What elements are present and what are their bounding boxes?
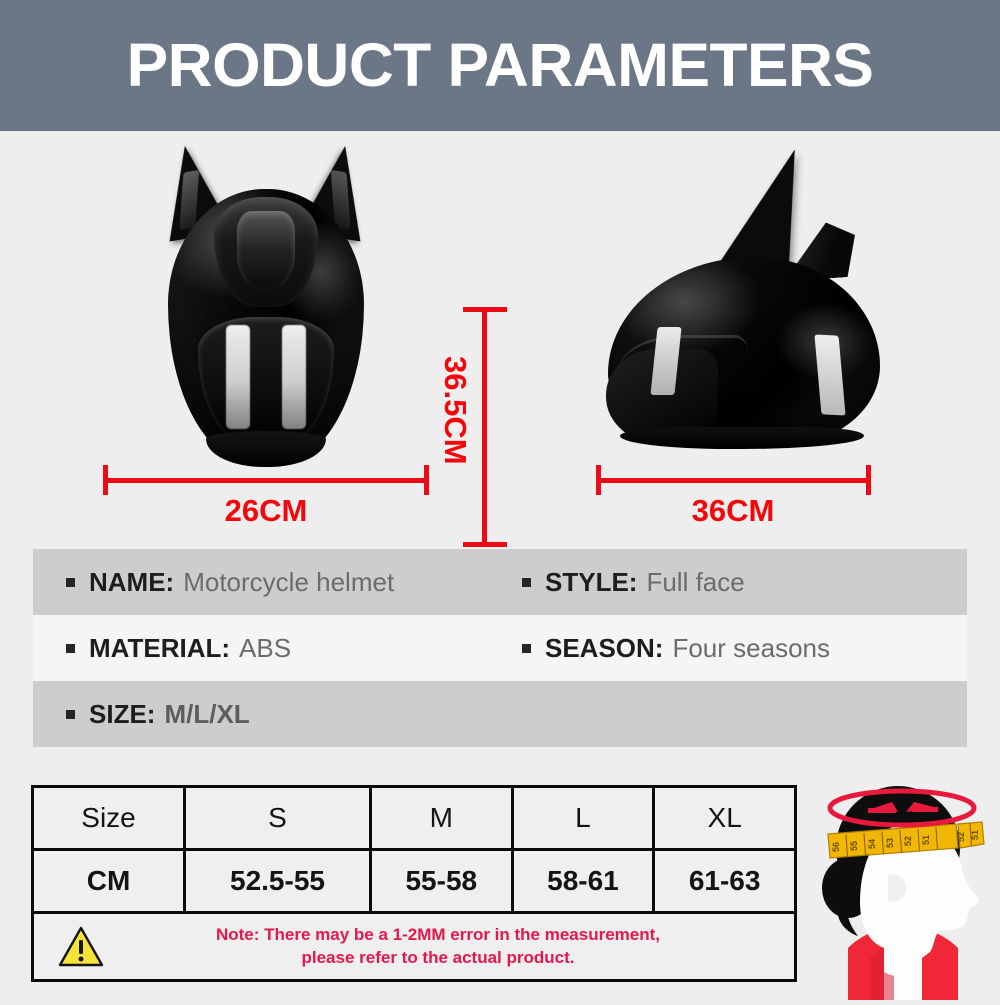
tape-number-55: 55 (849, 841, 859, 851)
bullet-icon (522, 578, 531, 587)
page-header: PRODUCT PARAMETERS (0, 0, 1000, 131)
helmet-side-view-image (596, 139, 896, 469)
tape-number-53: 53 (885, 838, 895, 848)
table-cell-unit: CM (33, 850, 185, 913)
table-cell-l: 58-61 (512, 850, 654, 913)
table-row-header: Size S M L XL (33, 787, 796, 850)
svg-text:51: 51 (970, 830, 980, 840)
table-cell-s: 52.5-55 (185, 850, 371, 913)
spec-value-size: M/L/XL (164, 699, 249, 730)
spec-value-style: Full face (646, 567, 744, 598)
table-header-s: S (185, 787, 371, 850)
helmet-chin-bar (206, 431, 326, 467)
spec-item-style: STYLE: Full face (500, 567, 967, 598)
note-line-2: please refer to the actual product. (301, 948, 574, 967)
helmet-visor (198, 317, 334, 443)
helmet-side-base (620, 427, 864, 449)
front-width-dimension-label: 26CM (103, 493, 429, 529)
bullet-icon (522, 644, 531, 653)
dimension-line-horizontal (596, 478, 870, 483)
table-cell-m: 55-58 (370, 850, 512, 913)
side-width-dimension-label: 36CM (596, 493, 870, 529)
page-title: PRODUCT PARAMETERS (127, 35, 874, 96)
spec-label-season: SEASON: (545, 633, 663, 664)
helmet-front-view-image (140, 141, 390, 466)
dimension-cap-bottom (463, 542, 507, 547)
spec-row-size: SIZE: M/L/XL (33, 681, 967, 747)
spec-value-season: Four seasons (672, 633, 830, 664)
spec-value-material: ABS (239, 633, 291, 664)
spec-item-material: MATERIAL: ABS (33, 633, 500, 664)
specifications-list: NAME: Motorcycle helmet STYLE: Full face… (33, 549, 967, 747)
spec-value-name: Motorcycle helmet (183, 567, 394, 598)
note-text: Note: There may be a 1-2MM error in the … (120, 924, 784, 970)
note-line-1: Note: There may be a 1-2MM error in the … (216, 925, 660, 944)
table-cell-xl: 61-63 (654, 850, 796, 913)
bullet-icon (66, 578, 75, 587)
spec-label-name: NAME: (89, 567, 174, 598)
spec-label-style: STYLE: (545, 567, 637, 598)
visor-reflection-right (282, 325, 306, 429)
spec-row-name-style: NAME: Motorcycle helmet STYLE: Full face (33, 549, 967, 615)
spec-label-material: MATERIAL: (89, 633, 230, 664)
tape-number-52: 52 (903, 836, 913, 846)
warning-triangle-icon (58, 926, 104, 968)
dimension-line-horizontal (103, 478, 429, 483)
tape-number-54: 54 (867, 839, 877, 849)
dimension-cap-right (866, 465, 871, 495)
svg-text:52: 52 (956, 832, 966, 842)
head-measurement-illustration: 56 55 54 53 52 51 52 51 (806, 772, 1000, 1000)
product-showcase: 36.5CM 26CM 36CM (0, 131, 1000, 541)
measurement-note: Note: There may be a 1-2MM error in the … (33, 913, 796, 981)
table-row-note: Note: There may be a 1-2MM error in the … (33, 913, 796, 981)
visor-reflection-left (226, 325, 250, 429)
helmet-center-vent (237, 211, 295, 289)
size-chart-table: Size S M L XL CM 52.5-55 55-58 58-61 61-… (31, 785, 797, 982)
bullet-icon (66, 644, 75, 653)
table-row-cm: CM 52.5-55 55-58 58-61 61-63 (33, 850, 796, 913)
height-dimension-label: 36.5CM (437, 356, 473, 465)
table-header-m: M (370, 787, 512, 850)
spec-row-material-season: MATERIAL: ABS SEASON: Four seasons (33, 615, 967, 681)
spec-item-name: NAME: Motorcycle helmet (33, 567, 500, 598)
spec-label-size: SIZE: (89, 699, 155, 730)
spec-item-size: SIZE: M/L/XL (33, 699, 500, 730)
table-header-l: L (512, 787, 654, 850)
tape-number-51: 51 (921, 835, 931, 845)
spec-item-season: SEASON: Four seasons (500, 633, 967, 664)
dimension-line-vertical (482, 307, 487, 547)
table-header-size: Size (33, 787, 185, 850)
dimension-cap-right (424, 465, 429, 495)
table-header-xl: XL (654, 787, 796, 850)
bullet-icon (66, 710, 75, 719)
tape-number-56: 56 (831, 842, 841, 852)
